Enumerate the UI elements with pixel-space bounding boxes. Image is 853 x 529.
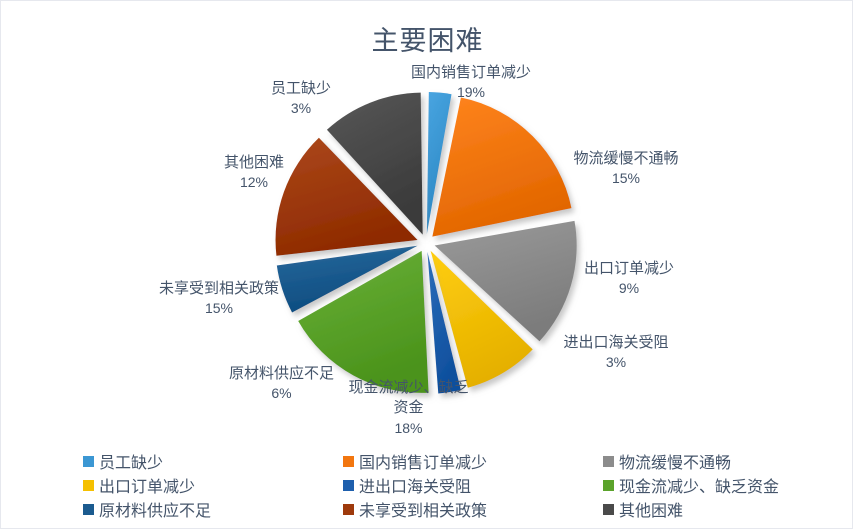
data-label-raw-material: 原材料供应不足 6% <box>209 364 354 403</box>
legend-item-raw-material[interactable]: 原材料供应不足 <box>83 497 343 521</box>
data-label-percent: 15% <box>134 299 304 318</box>
data-label-name: 其他困难 <box>224 154 284 171</box>
data-label-name: 国内销售订单减少 <box>411 64 531 81</box>
data-label-percent: 19% <box>371 83 571 102</box>
legend-label: 未享受到相关政策 <box>359 497 487 521</box>
data-label-name: 物流缓慢不通畅 <box>573 150 678 167</box>
legend-label: 物流缓慢不通畅 <box>619 449 731 473</box>
legend-item-customs-blocked[interactable]: 进出口海关受阻 <box>343 473 603 497</box>
legend-item-cashflow-shortage[interactable]: 现金流减少、缺乏资金 <box>603 473 853 497</box>
legend-row: 原材料供应不足 未享受到相关政策 其他困难 <box>83 497 823 521</box>
data-label-name: 进出口海关受阻 <box>563 334 668 351</box>
legend-swatch-icon <box>83 480 94 491</box>
legend-label: 出口订单减少 <box>99 473 195 497</box>
data-label-percent: 9% <box>559 279 699 298</box>
data-label-cashflow-shortage: 现金流减少、缺乏资金 18% <box>346 378 471 437</box>
legend-item-domestic-orders[interactable]: 国内销售订单减少 <box>343 449 603 473</box>
chart-legend: 员工缺少 国内销售订单减少 物流缓慢不通畅 出口订单减少 进出口海关受阻 <box>83 449 823 521</box>
data-label-percent: 12% <box>199 173 309 192</box>
legend-swatch-icon <box>343 480 354 491</box>
legend-swatch-icon <box>83 504 94 515</box>
data-label-no-policy-benefit: 未享受到相关政策 15% <box>134 279 304 318</box>
data-label-name: 原材料供应不足 <box>229 365 334 382</box>
legend-label: 现金流减少、缺乏资金 <box>619 473 779 497</box>
legend-item-no-policy-benefit[interactable]: 未享受到相关政策 <box>343 497 603 521</box>
data-label-employee-shortage: 员工缺少 3% <box>246 79 356 118</box>
legend-item-other-difficulties[interactable]: 其他困难 <box>603 497 853 521</box>
data-label-percent: 15% <box>546 169 706 188</box>
data-label-percent: 3% <box>536 353 696 372</box>
legend-label: 进出口海关受阻 <box>359 473 471 497</box>
legend-row: 员工缺少 国内销售订单减少 物流缓慢不通畅 <box>83 449 823 473</box>
legend-label: 国内销售订单减少 <box>359 449 487 473</box>
data-label-name: 员工缺少 <box>271 80 331 97</box>
data-label-name: 现金流减少、缺乏资金 <box>348 379 468 416</box>
chart-frame: 主要困难 员工缺少 3% 国内销售订单减少 19% 物流缓慢不通畅 15% 出口… <box>0 0 853 529</box>
legend-swatch-icon <box>83 456 94 467</box>
data-label-domestic-orders: 国内销售订单减少 19% <box>371 63 571 102</box>
legend-swatch-icon <box>603 504 614 515</box>
data-label-name: 出口订单减少 <box>584 260 674 277</box>
legend-item-employee-shortage[interactable]: 员工缺少 <box>83 449 343 473</box>
legend-swatch-icon <box>343 456 354 467</box>
data-label-percent: 6% <box>209 384 354 403</box>
legend-label: 员工缺少 <box>99 449 163 473</box>
legend-row: 出口订单减少 进出口海关受阻 现金流减少、缺乏资金 <box>83 473 823 497</box>
legend-swatch-icon <box>603 456 614 467</box>
legend-swatch-icon <box>343 504 354 515</box>
data-label-name: 未享受到相关政策 <box>159 280 279 297</box>
data-label-logistics-slow: 物流缓慢不通畅 15% <box>546 149 706 188</box>
legend-label: 原材料供应不足 <box>99 497 211 521</box>
data-label-customs-blocked: 进出口海关受阻 3% <box>536 333 696 372</box>
legend-label: 其他困难 <box>619 497 683 521</box>
data-label-percent: 18% <box>346 419 471 438</box>
data-label-percent: 3% <box>246 99 356 118</box>
legend-item-logistics-slow[interactable]: 物流缓慢不通畅 <box>603 449 853 473</box>
chart-title: 主要困难 <box>1 19 853 58</box>
legend-swatch-icon <box>603 480 614 491</box>
data-label-export-orders: 出口订单减少 9% <box>559 259 699 298</box>
data-label-other-difficulties: 其他困难 12% <box>199 153 309 192</box>
pie-slices <box>276 92 577 393</box>
legend-item-export-orders[interactable]: 出口订单减少 <box>83 473 343 497</box>
